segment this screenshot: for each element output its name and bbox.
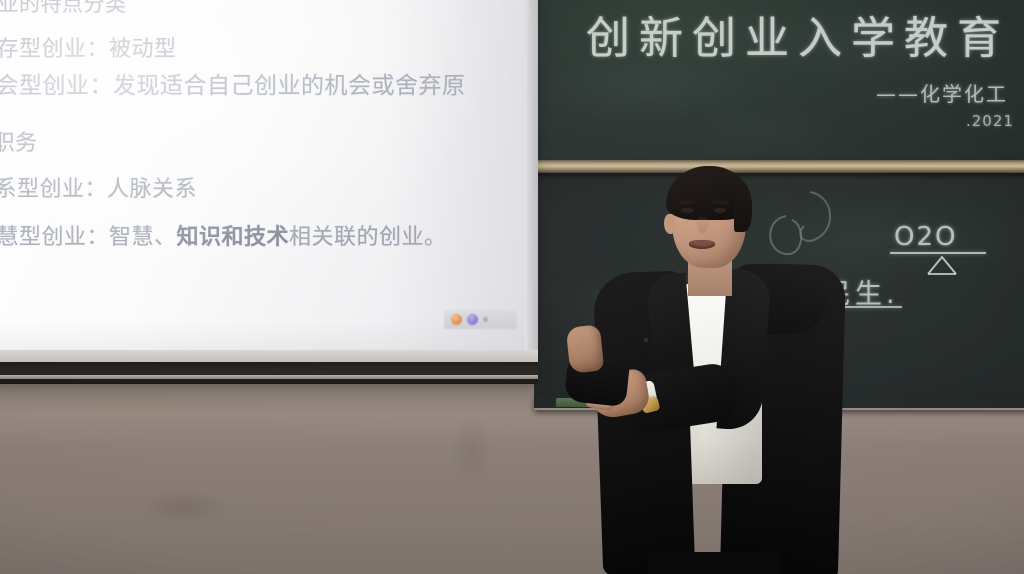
nose [697,215,708,233]
wall-texture [0,398,1024,574]
classroom-wall-lower [0,398,1024,574]
screen-bottom-border [0,350,538,362]
trousers [648,552,780,574]
classroom-scene: 创新创业入学教育 ——化学化工 .2021 O2O 民生. [0,0,1024,574]
slide-line-5: 关系型创业：人脉关系 [0,176,197,204]
screen-bottom-frame [0,362,538,384]
slide-line-3: 机会型创业：发现适合自己创业的机会或舍弃原 [0,72,466,100]
browser-orange-icon[interactable] [451,314,462,325]
blackboard-upper-panel [534,0,1024,164]
slide-line-6-bold: 知识和技术 [177,225,290,250]
slide-taskbar[interactable] [444,310,517,329]
slide-line-6-suffix: 相关联的创业。 [289,225,447,250]
slide-line-6: 智慧型创业：智慧、知识和技术相关联的创业。 [0,224,447,252]
slide-line-6-prefix: 智慧型创业：智慧、 [0,225,177,250]
slide-line-2: 生存型创业：被动型 [0,36,177,64]
small-app-icon[interactable] [483,317,488,322]
eye-left [681,208,694,213]
browser-purple-icon[interactable] [467,314,478,325]
blackboard-smudge-texture [534,0,1024,164]
screen-right-edge [525,0,538,384]
eye-right [714,208,726,213]
mouth [689,240,715,249]
blackboard-triangle-icon [922,252,962,278]
hand-raised-fist [566,324,605,373]
ear [664,214,675,234]
jacket-button-upper [644,338,648,342]
hair-sideburn [734,190,752,232]
slide-line-4: 或职务 [0,130,38,158]
presenter-person [556,160,856,574]
screen-bottom-rail [0,375,538,379]
slide-line-1: 创业的特点分类 [0,0,127,18]
projector-screen: 创业的特点分类 生存型创业：被动型 机会型创业：发现适合自己创业的机会或舍弃原 … [0,0,538,384]
